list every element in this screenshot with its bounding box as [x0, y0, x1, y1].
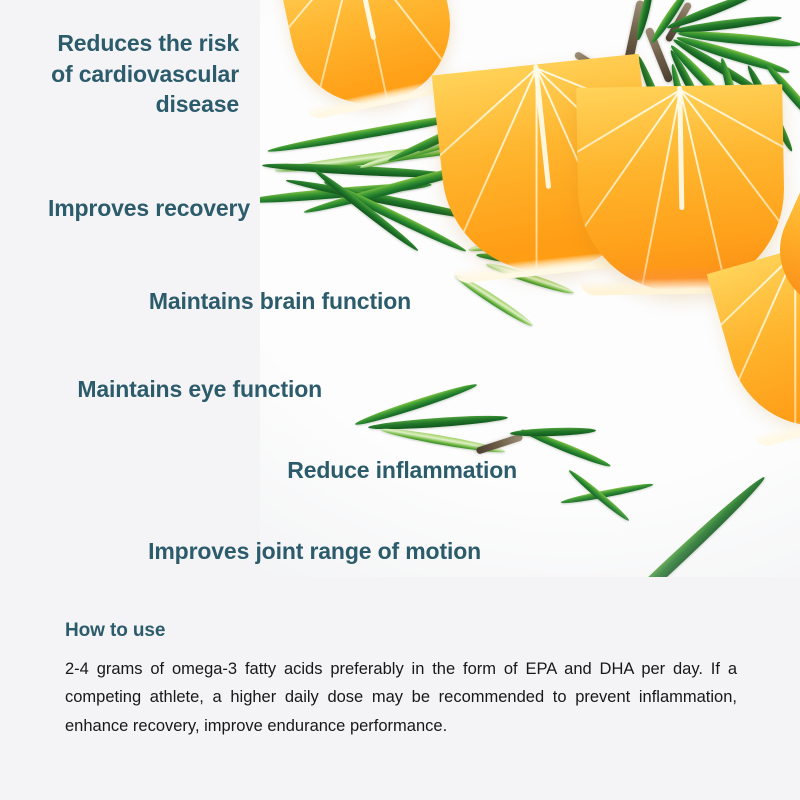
how-to-use-section: How to use 2-4 grams of omega-3 fatty ac… [0, 577, 800, 800]
how-to-use-body: 2-4 grams of omega-3 fatty acids prefera… [65, 655, 737, 740]
benefit-eye-function: Maintains eye function [0, 374, 322, 405]
benefit-inflammation: Reduce inflammation [0, 455, 517, 486]
benefit-joint-range-of-motion: Improves joint range of motion [0, 536, 481, 567]
benefits-list: Reduces the risk of cardiovascular disea… [0, 0, 800, 577]
benefit-brain-function: Maintains brain function [0, 286, 411, 317]
infographic-card: Reduces the risk of cardiovascular disea… [0, 0, 800, 800]
how-to-use-title: How to use [65, 620, 165, 642]
benefit-recovery: Improves recovery [0, 193, 250, 224]
benefit-cardiovascular: Reduces the risk of cardiovascular disea… [0, 28, 239, 120]
